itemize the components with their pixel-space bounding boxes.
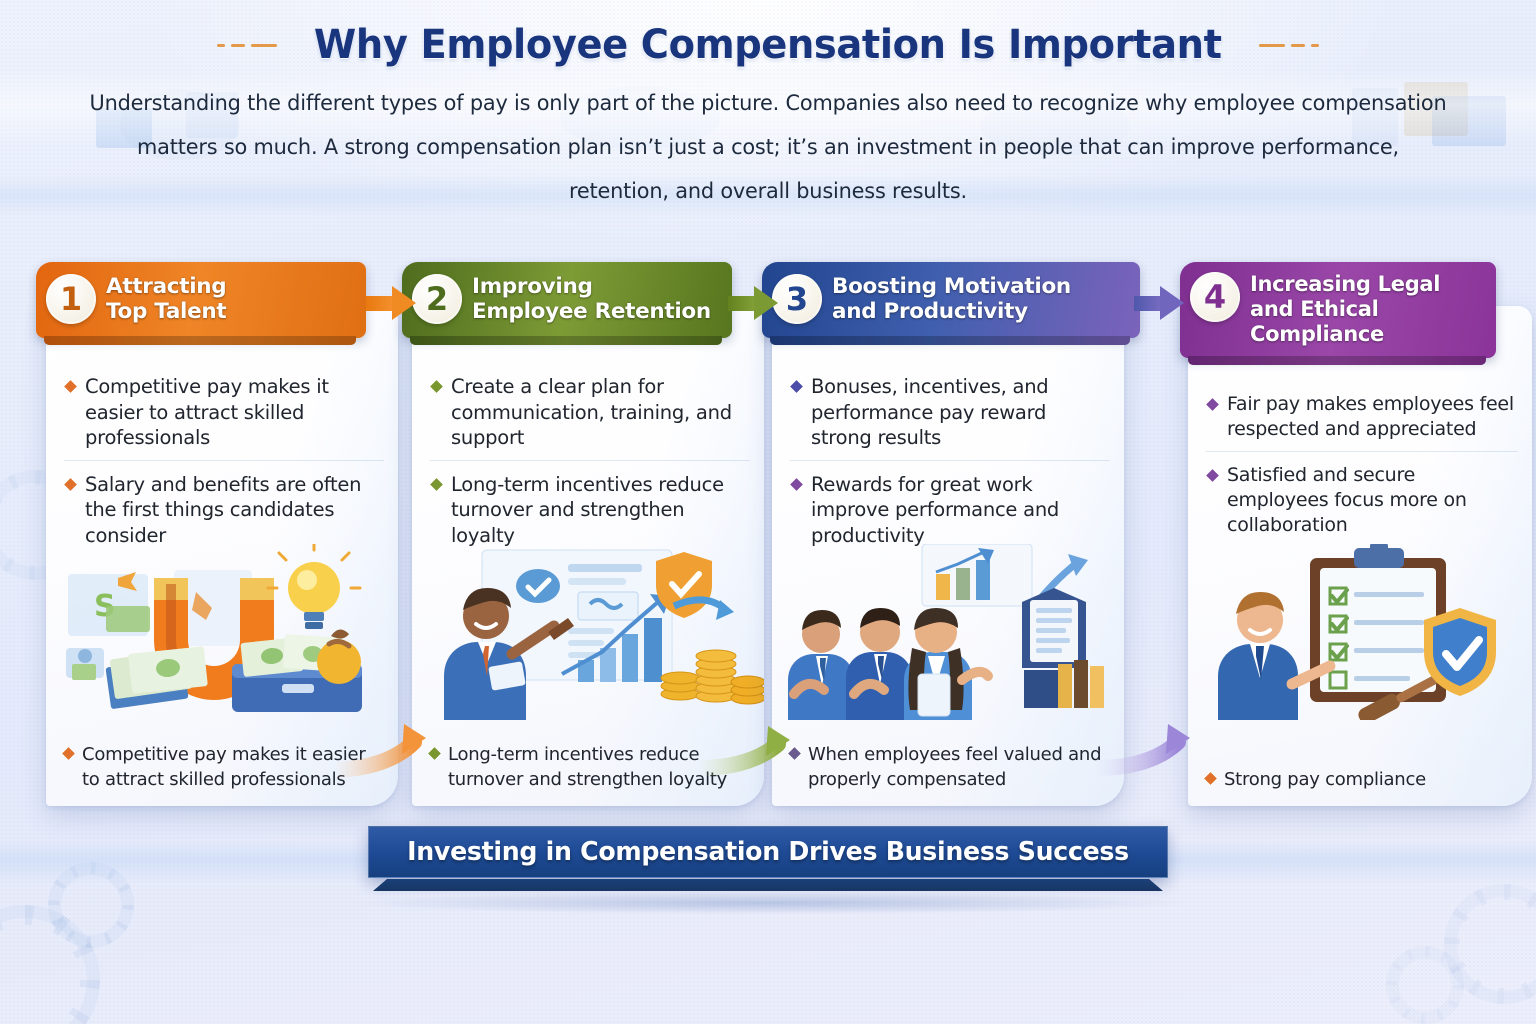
card-bullet-list: Competitive pay makes it easier to attra…: [64, 368, 384, 557]
page-subtitle: Understanding the different types of pay…: [84, 82, 1452, 214]
banner-tail: [373, 879, 1163, 891]
connector-arrow-1: [366, 286, 416, 320]
illustration-svg: S: [46, 544, 398, 720]
diamond-bullet-icon: [1206, 398, 1219, 411]
bottom-banner: Investing in Compensation Drives Busines…: [368, 826, 1168, 878]
list-item: Satisfied and secure employees focus mor…: [1206, 451, 1518, 547]
bullet-text: Satisfied and secure employees focus mor…: [1227, 463, 1514, 538]
bullet-text: Long-term incentives reduce turnover and…: [451, 472, 746, 549]
card-bullet-list: Bonuses, incentives, and performance pay…: [790, 368, 1110, 557]
page-title: Why Employee Compensation Is Important: [314, 22, 1222, 68]
title-row: Why Employee Compensation Is Important: [0, 22, 1536, 68]
caption-text: When employees feel valued and properly …: [808, 742, 1112, 792]
banner-shadow: [350, 892, 1186, 914]
bullet-text: Salary and benefits are often the first …: [85, 472, 380, 549]
diamond-bullet-icon: [790, 478, 803, 491]
connector-arrow-2: [728, 286, 778, 320]
card-improving-employee-retention[interactable]: Create a clear plan for communication, t…: [402, 262, 776, 814]
card-boosting-motivation-productivity[interactable]: Bonuses, incentives, and performance pay…: [762, 262, 1136, 814]
card-caption: Strong pay compliance: [1206, 767, 1520, 792]
card-header-ribbon: 3 Boosting Motivation and Productivity: [762, 262, 1140, 338]
gear-icon: [1386, 946, 1464, 1024]
illustration-svg: [1188, 544, 1532, 720]
banner-text: Investing in Compensation Drives Busines…: [407, 837, 1129, 867]
card-header-ribbon: 4 Increasing Legal and Ethical Complianc…: [1180, 262, 1496, 358]
card-title: Increasing Legal and Ethical Compliance: [1250, 272, 1440, 347]
illustration-svg: [412, 544, 764, 720]
card-number-badge: 3: [772, 274, 822, 324]
diamond-bullet-icon: [64, 478, 77, 491]
bottom-banner-wrap: Investing in Compensation Drives Busines…: [0, 826, 1536, 894]
list-item: Create a clear plan for communication, t…: [430, 368, 750, 460]
diamond-bullet-icon: [1206, 469, 1219, 482]
card-title: Boosting Motivation and Productivity: [832, 274, 1071, 324]
card-bullet-list: Fair pay makes employees feel respected …: [1206, 386, 1518, 547]
cards-container: Competitive pay makes it easier to attra…: [0, 262, 1536, 822]
illustration-svg: [772, 544, 1124, 720]
card-bullet-list: Create a clear plan for communication, t…: [430, 368, 750, 557]
card-header-ribbon: 1 Attracting Top Talent: [36, 262, 366, 338]
card-number-badge: 4: [1190, 272, 1240, 322]
list-item: Salary and benefits are often the first …: [64, 460, 384, 558]
gear-icon: [1444, 884, 1536, 1004]
card-title: Attracting Top Talent: [106, 274, 226, 324]
gear-icon: [0, 905, 100, 1024]
curved-arrow-1-to-2: [330, 722, 450, 778]
curved-arrow-2-to-3: [694, 722, 814, 778]
card-attracting-top-talent[interactable]: Competitive pay makes it easier to attra…: [36, 262, 410, 814]
diamond-bullet-icon: [790, 380, 803, 393]
bullet-text: Create a clear plan for communication, t…: [451, 374, 746, 451]
card-panel: Bonuses, incentives, and performance pay…: [772, 306, 1124, 806]
card-panel: Fair pay makes employees feel respected …: [1188, 306, 1532, 806]
bullet-text: Competitive pay makes it easier to attra…: [85, 374, 380, 451]
card-header-ribbon: 2 Improving Employee Retention: [402, 262, 732, 338]
curved-arrow-3-to-4: [1092, 722, 1212, 778]
list-item: Long-term incentives reduce turnover and…: [430, 460, 750, 558]
bullet-text: Rewards for great work improve performan…: [811, 472, 1106, 549]
card-number-badge: 2: [412, 274, 462, 324]
bullet-text: Fair pay makes employees feel respected …: [1227, 392, 1514, 442]
list-item: Rewards for great work improve performan…: [790, 460, 1110, 558]
card-number-badge: 1: [46, 274, 96, 324]
card-title: Improving Employee Retention: [472, 274, 711, 324]
title-dash-decoration-left: [217, 44, 277, 47]
page-header: Why Employee Compensation Is Important U…: [0, 22, 1536, 214]
card-increasing-legal-ethical-compliance[interactable]: Fair pay makes employees feel respected …: [1180, 262, 1536, 814]
bullet-text: Bonuses, incentives, and performance pay…: [811, 374, 1106, 451]
diamond-bullet-icon: [430, 380, 443, 393]
connector-arrow-3: [1134, 286, 1184, 320]
list-item: Bonuses, incentives, and performance pay…: [790, 368, 1110, 460]
caption-text: Strong pay compliance: [1224, 767, 1426, 792]
list-item: Fair pay makes employees feel respected …: [1206, 386, 1518, 451]
diamond-bullet-icon: [62, 747, 75, 760]
diamond-bullet-icon: [430, 478, 443, 491]
title-dash-decoration-right: [1259, 44, 1319, 47]
list-item: Competitive pay makes it easier to attra…: [64, 368, 384, 460]
infographic-canvas: Why Employee Compensation Is Important U…: [0, 0, 1536, 1024]
diamond-bullet-icon: [64, 380, 77, 393]
card-caption: When employees feel valued and properly …: [790, 742, 1112, 792]
